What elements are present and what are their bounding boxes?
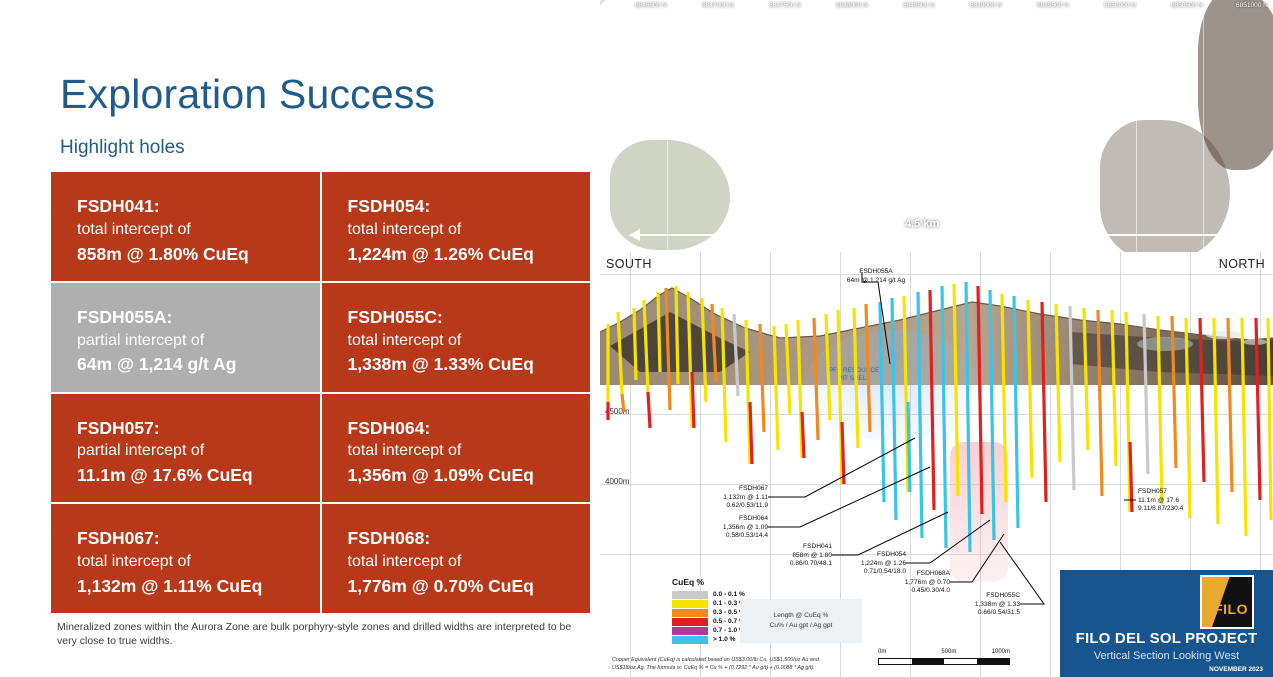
legend-row: 0.3 - 0.5 % bbox=[672, 608, 745, 617]
highlight-cell-fsdh055a: FSDH055A: partial intercept of 64m @ 1,2… bbox=[51, 283, 320, 392]
legend-swatch bbox=[672, 609, 708, 617]
northing-tick-label: 6850000 N bbox=[1104, 2, 1136, 9]
northing-tick-label: 6849500 N bbox=[1037, 2, 1069, 9]
hole-value: 1,776m @ 0.70% CuEq bbox=[348, 574, 591, 599]
hole-description: total intercept of bbox=[348, 551, 591, 574]
legend-swatch bbox=[672, 627, 708, 635]
legend-swatch bbox=[672, 618, 708, 626]
northing-tick-label: 6847500 N bbox=[769, 2, 801, 9]
hole-value: 858m @ 1.80% CuEq bbox=[77, 242, 320, 267]
plan-gridline bbox=[935, 0, 936, 252]
callout-grades: 0.86/0.70/48.1 bbox=[750, 560, 832, 569]
disclaimer-line1: Copper Equivalent (CuEq) is calculated b… bbox=[612, 656, 819, 664]
highlight-cell-fsdh067: FSDH067: total intercept of 1,132m @ 1.1… bbox=[51, 504, 320, 613]
legend-row: 0.1 - 0.3 % bbox=[672, 599, 745, 608]
northing-tick-label: 6850500 N bbox=[1171, 2, 1203, 9]
project-date: NOVEMBER 2023 bbox=[1209, 666, 1263, 673]
hole-value: 1,338m @ 1.33% CuEq bbox=[348, 352, 591, 377]
legend-row: 0.5 - 0.7 % bbox=[672, 617, 745, 626]
hole-description: partial intercept of bbox=[77, 330, 320, 353]
legend-swatch bbox=[672, 591, 708, 599]
plan-gridline bbox=[1203, 0, 1204, 252]
legend-label: 0.0 - 0.1 % bbox=[713, 591, 745, 598]
callout-intercept: 1,338m @ 1.33 bbox=[938, 601, 1020, 610]
hole-value: 1,224m @ 1.26% CuEq bbox=[348, 242, 591, 267]
callout-intercept: 1,132m @ 1.11 bbox=[686, 494, 768, 503]
plan-view-satellite-image: 6846500 N 6847000 N 6847500 N 6848000 N … bbox=[600, 0, 1273, 252]
hole-id: FSDH068: bbox=[348, 526, 591, 551]
hole-description: total intercept of bbox=[348, 330, 591, 353]
disclaimer-line2: US$18/oz Ag. The formula is: CuEq % = Cu… bbox=[612, 664, 819, 672]
filo-logo-text: FILO bbox=[1214, 601, 1248, 617]
intercept-format-line1: Length @ CuEq % bbox=[774, 611, 829, 621]
hole-value: 1,132m @ 1.11% CuEq bbox=[77, 574, 320, 599]
plan-gridline bbox=[667, 0, 668, 252]
callout-hole-name: FSDH055C bbox=[938, 592, 1020, 601]
callout-intercept: 858m @ 1.80 bbox=[750, 552, 832, 561]
slide-root: Exploration Success Highlight holes FSDH… bbox=[0, 0, 1273, 677]
callout-intercept: 1,776m @ 0.70 bbox=[868, 579, 950, 588]
legend-row: 0.0 - 0.1 % bbox=[672, 590, 745, 599]
legend-swatch bbox=[672, 600, 708, 608]
scale-bar-graphic bbox=[878, 658, 1010, 665]
callout-grades: 0.66/0.54/31.5 bbox=[938, 609, 1020, 618]
highlight-cell-fsdh041: FSDH041: total intercept of 858m @ 1.80%… bbox=[51, 172, 320, 281]
intercept-format-line2: Cu% / Au gpt / Ag gpt bbox=[770, 621, 833, 631]
legend-title: CuEq % bbox=[672, 577, 745, 587]
northing-tick-label: 6847000 N bbox=[702, 2, 734, 9]
callout-grades: 0.58/0.53/14.4 bbox=[686, 532, 768, 541]
hole-description: partial intercept of bbox=[77, 440, 320, 463]
right-figure-panel: 6846500 N 6847000 N 6847500 N 6848000 N … bbox=[600, 0, 1273, 677]
scale-mid-label: 500m bbox=[941, 649, 956, 655]
callout-hole-name: FSDH054 bbox=[824, 551, 906, 560]
filo-logo-icon: FILO bbox=[1202, 577, 1252, 627]
plan-gridline bbox=[868, 0, 869, 252]
page-title: Exploration Success bbox=[60, 72, 580, 117]
intercept-format-key: Length @ CuEq % Cu% / Au gpt / Ag gpt bbox=[740, 599, 862, 643]
callout-fsdh055c: FSDH055C 1,338m @ 1.33 0.66/0.54/31.5 bbox=[938, 592, 1020, 618]
callout-intercept: 64m @ 1,214 g/t Ag bbox=[847, 277, 905, 286]
project-subtitle: Vertical Section Looking West bbox=[1060, 650, 1273, 662]
highlight-cell-fsdh057: FSDH057: partial intercept of 11.1m @ 17… bbox=[51, 394, 320, 503]
hole-description: total intercept of bbox=[348, 440, 591, 463]
northing-tick-label: 6846500 N bbox=[635, 2, 667, 9]
hole-description: total intercept of bbox=[77, 219, 320, 242]
hole-id: FSDH055C: bbox=[348, 305, 591, 330]
callout-fsdh041: FSDH041 858m @ 1.80 0.86/0.70/48.1 bbox=[750, 543, 832, 569]
hole-description: total intercept of bbox=[348, 219, 591, 242]
highlight-holes-grid: FSDH041: total intercept of 858m @ 1.80%… bbox=[51, 172, 590, 613]
callout-intercept: 11.1m @ 17.6 bbox=[1138, 497, 1183, 506]
cross-section-figure: SOUTH NORTH 5000m 4500m 4000m bbox=[600, 252, 1273, 677]
callout-hole-name: FSDH064 bbox=[686, 515, 768, 524]
legend-row: 0.7 - 1.0 % bbox=[672, 626, 745, 635]
highlight-cell-fsdh068: FSDH068: total intercept of 1,776m @ 0.7… bbox=[322, 504, 591, 613]
callout-hole-name: FSDH055A bbox=[847, 268, 905, 277]
project-name: FILO DEL SOL PROJECT bbox=[1060, 630, 1273, 647]
highlight-cell-fsdh054: FSDH054: total intercept of 1,224m @ 1.2… bbox=[322, 172, 591, 281]
scale-start-label: 0m bbox=[878, 649, 886, 655]
cueq-legend: CuEq % 0.0 - 0.1 % 0.1 - 0.3 % 0.3 - 0.5… bbox=[672, 577, 745, 644]
callout-intercept: 1,224m @ 1.26 bbox=[824, 560, 906, 569]
callout-grades: 9.11/8.87/230.4 bbox=[1138, 505, 1183, 514]
callout-fsdh064: FSDH064 1,356m @ 1.09 0.58/0.53/14.4 bbox=[686, 515, 768, 541]
hole-description: total intercept of bbox=[77, 551, 320, 574]
project-logo-panel: FILO FILO DEL SOL PROJECT Vertical Secti… bbox=[1060, 570, 1273, 677]
callout-hole-name: FSDH057 bbox=[1138, 488, 1183, 497]
hole-id: FSDH064: bbox=[348, 416, 591, 441]
hole-id: FSDH041: bbox=[77, 194, 320, 219]
hole-id: FSDH057: bbox=[77, 416, 320, 441]
northing-tick-label: 6849000 N bbox=[970, 2, 1002, 9]
hole-value: 1,356m @ 1.09% CuEq bbox=[348, 463, 591, 488]
plan-scale-arrow bbox=[630, 234, 1243, 236]
callout-fsdh067: FSDH067 1,132m @ 1.11 0.62/0.53/11.9 bbox=[686, 485, 768, 511]
northing-tick-label: 6848000 N bbox=[836, 2, 868, 9]
section-scale-bar: 0m 500m 1000m bbox=[878, 658, 1010, 665]
plan-gridline bbox=[1136, 0, 1137, 252]
true-widths-footnote: Mineralized zones within the Aurora Zone… bbox=[57, 620, 582, 648]
page-subtitle: Highlight holes bbox=[60, 137, 185, 159]
callout-fsdh057: FSDH057 11.1m @ 17.6 9.11/8.87/230.4 bbox=[1138, 488, 1183, 514]
callout-intercept: 1,356m @ 1.09 bbox=[686, 524, 768, 533]
callout-hole-name: FSDH041 bbox=[750, 543, 832, 552]
plan-gridline bbox=[1069, 0, 1070, 252]
hole-id: FSDH067: bbox=[77, 526, 320, 551]
cueq-formula-disclaimer: Copper Equivalent (CuEq) is calculated b… bbox=[612, 656, 819, 673]
plan-gridline bbox=[801, 0, 802, 252]
callout-hole-name: FSDH068A bbox=[868, 570, 950, 579]
plan-gridline bbox=[1002, 0, 1003, 252]
callout-hole-name: FSDH067 bbox=[686, 485, 768, 494]
hole-id: FSDH054: bbox=[348, 194, 591, 219]
hole-value: 64m @ 1,214 g/t Ag bbox=[77, 352, 320, 377]
hole-id: FSDH055A: bbox=[77, 305, 320, 330]
northing-tick-label: 6848500 N bbox=[903, 2, 935, 9]
callout-fsdh055a: FSDH055A 64m @ 1,214 g/t Ag bbox=[847, 268, 905, 285]
plan-scale-label: 4.5 km bbox=[905, 218, 939, 230]
scale-end-label: 1000m bbox=[992, 649, 1010, 655]
filo-logo-mark: FILO bbox=[1200, 575, 1254, 629]
highlight-cell-fsdh064: FSDH064: total intercept of 1,356m @ 1.0… bbox=[322, 394, 591, 503]
highlight-cell-fsdh055c: FSDH055C: total intercept of 1,338m @ 1.… bbox=[322, 283, 591, 392]
legend-row: > 1.0 % bbox=[672, 635, 745, 644]
callout-grades: 0.62/0.53/11.9 bbox=[686, 502, 768, 511]
hole-value: 11.1m @ 17.6% CuEq bbox=[77, 463, 320, 488]
legend-label: > 1.0 % bbox=[713, 636, 736, 643]
legend-swatch bbox=[672, 636, 708, 644]
northing-tick-label: 6851000 N bbox=[1236, 2, 1268, 9]
plan-gridline bbox=[734, 0, 735, 252]
left-content-panel: Exploration Success Highlight holes FSDH… bbox=[0, 0, 600, 677]
